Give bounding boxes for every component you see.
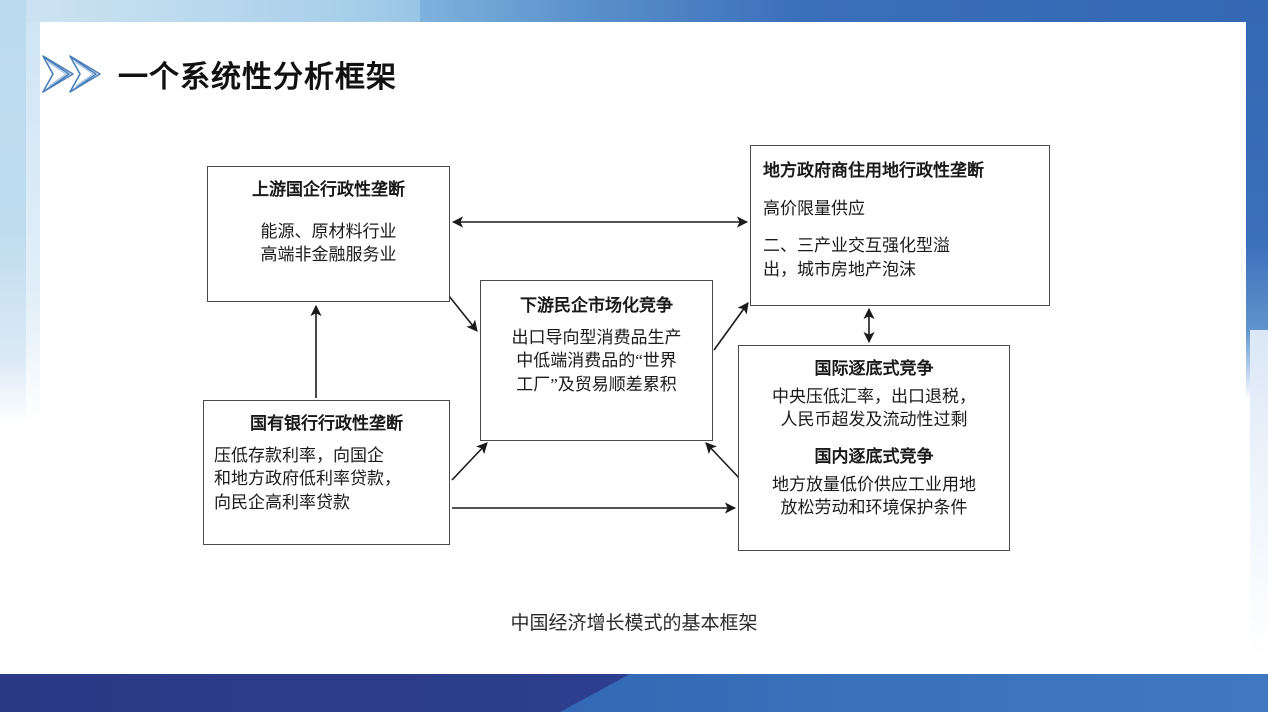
- slide-canvas: 一个系统性分析框架: [0, 0, 1268, 712]
- node-body-domestic: 地方放量低价供应工业用地 放松劳动和环境保护条件: [747, 473, 1001, 520]
- node-body: 能源、原材料行业 高端非金融服务业: [218, 220, 439, 267]
- node-body-international: 中央压低汇率，出口退税， 人民币超发及流动性过剩: [747, 385, 1001, 432]
- node-title-domestic: 国内逐底式竞争: [747, 446, 1001, 469]
- node-title-international: 国际逐底式竞争: [747, 358, 1001, 381]
- node-body: 出口导向型消费品生产 中低端消费品的“世界 工厂”及贸易顺差累积: [489, 326, 704, 396]
- edge-upstream-to-private: [449, 296, 477, 331]
- diagram-container: 上游国企行政性垄断 能源、原材料行业 高端非金融服务业 地方政府商住用地行政性垄…: [0, 0, 1268, 712]
- diagram-node-upstream-soe[interactable]: 上游国企行政性垄断 能源、原材料行业 高端非金融服务业: [207, 166, 450, 302]
- node-body: 压低存款利率，向国企 和地方政府低利率贷款， 向民企高利率贷款: [214, 444, 439, 514]
- diagram-node-state-banks[interactable]: 国有银行行政性垄断 压低存款利率，向国企 和地方政府低利率贷款， 向民企高利率贷…: [203, 400, 450, 545]
- edge-private-to-localgov: [714, 303, 748, 350]
- diagram-node-race-to-bottom[interactable]: 国际逐底式竞争 中央压低汇率，出口退税， 人民币超发及流动性过剩 国内逐底式竞争…: [738, 345, 1010, 551]
- node-title: 下游民企市场化竞争: [489, 295, 704, 318]
- node-body: 二、三产业交互强化型溢 出，城市房地产泡沫: [763, 234, 1039, 281]
- diagram-node-local-government[interactable]: 地方政府商住用地行政性垄断 高价限量供应 二、三产业交互强化型溢 出，城市房地产…: [750, 145, 1050, 306]
- node-title: 地方政府商住用地行政性垄断: [763, 160, 1039, 183]
- node-title: 上游国企行政性垄断: [218, 179, 439, 202]
- node-subtitle: 高价限量供应: [763, 197, 1039, 220]
- figure-caption: 中国经济增长模式的基本框架: [0, 608, 1268, 635]
- edge-racebottom-to-private: [706, 443, 741, 480]
- node-title: 国有银行行政性垄断: [214, 413, 439, 436]
- diagram-node-private-firms[interactable]: 下游民企市场化竞争 出口导向型消费品生产 中低端消费品的“世界 工厂”及贸易顺差…: [480, 280, 713, 441]
- edge-banks-to-private: [452, 443, 487, 480]
